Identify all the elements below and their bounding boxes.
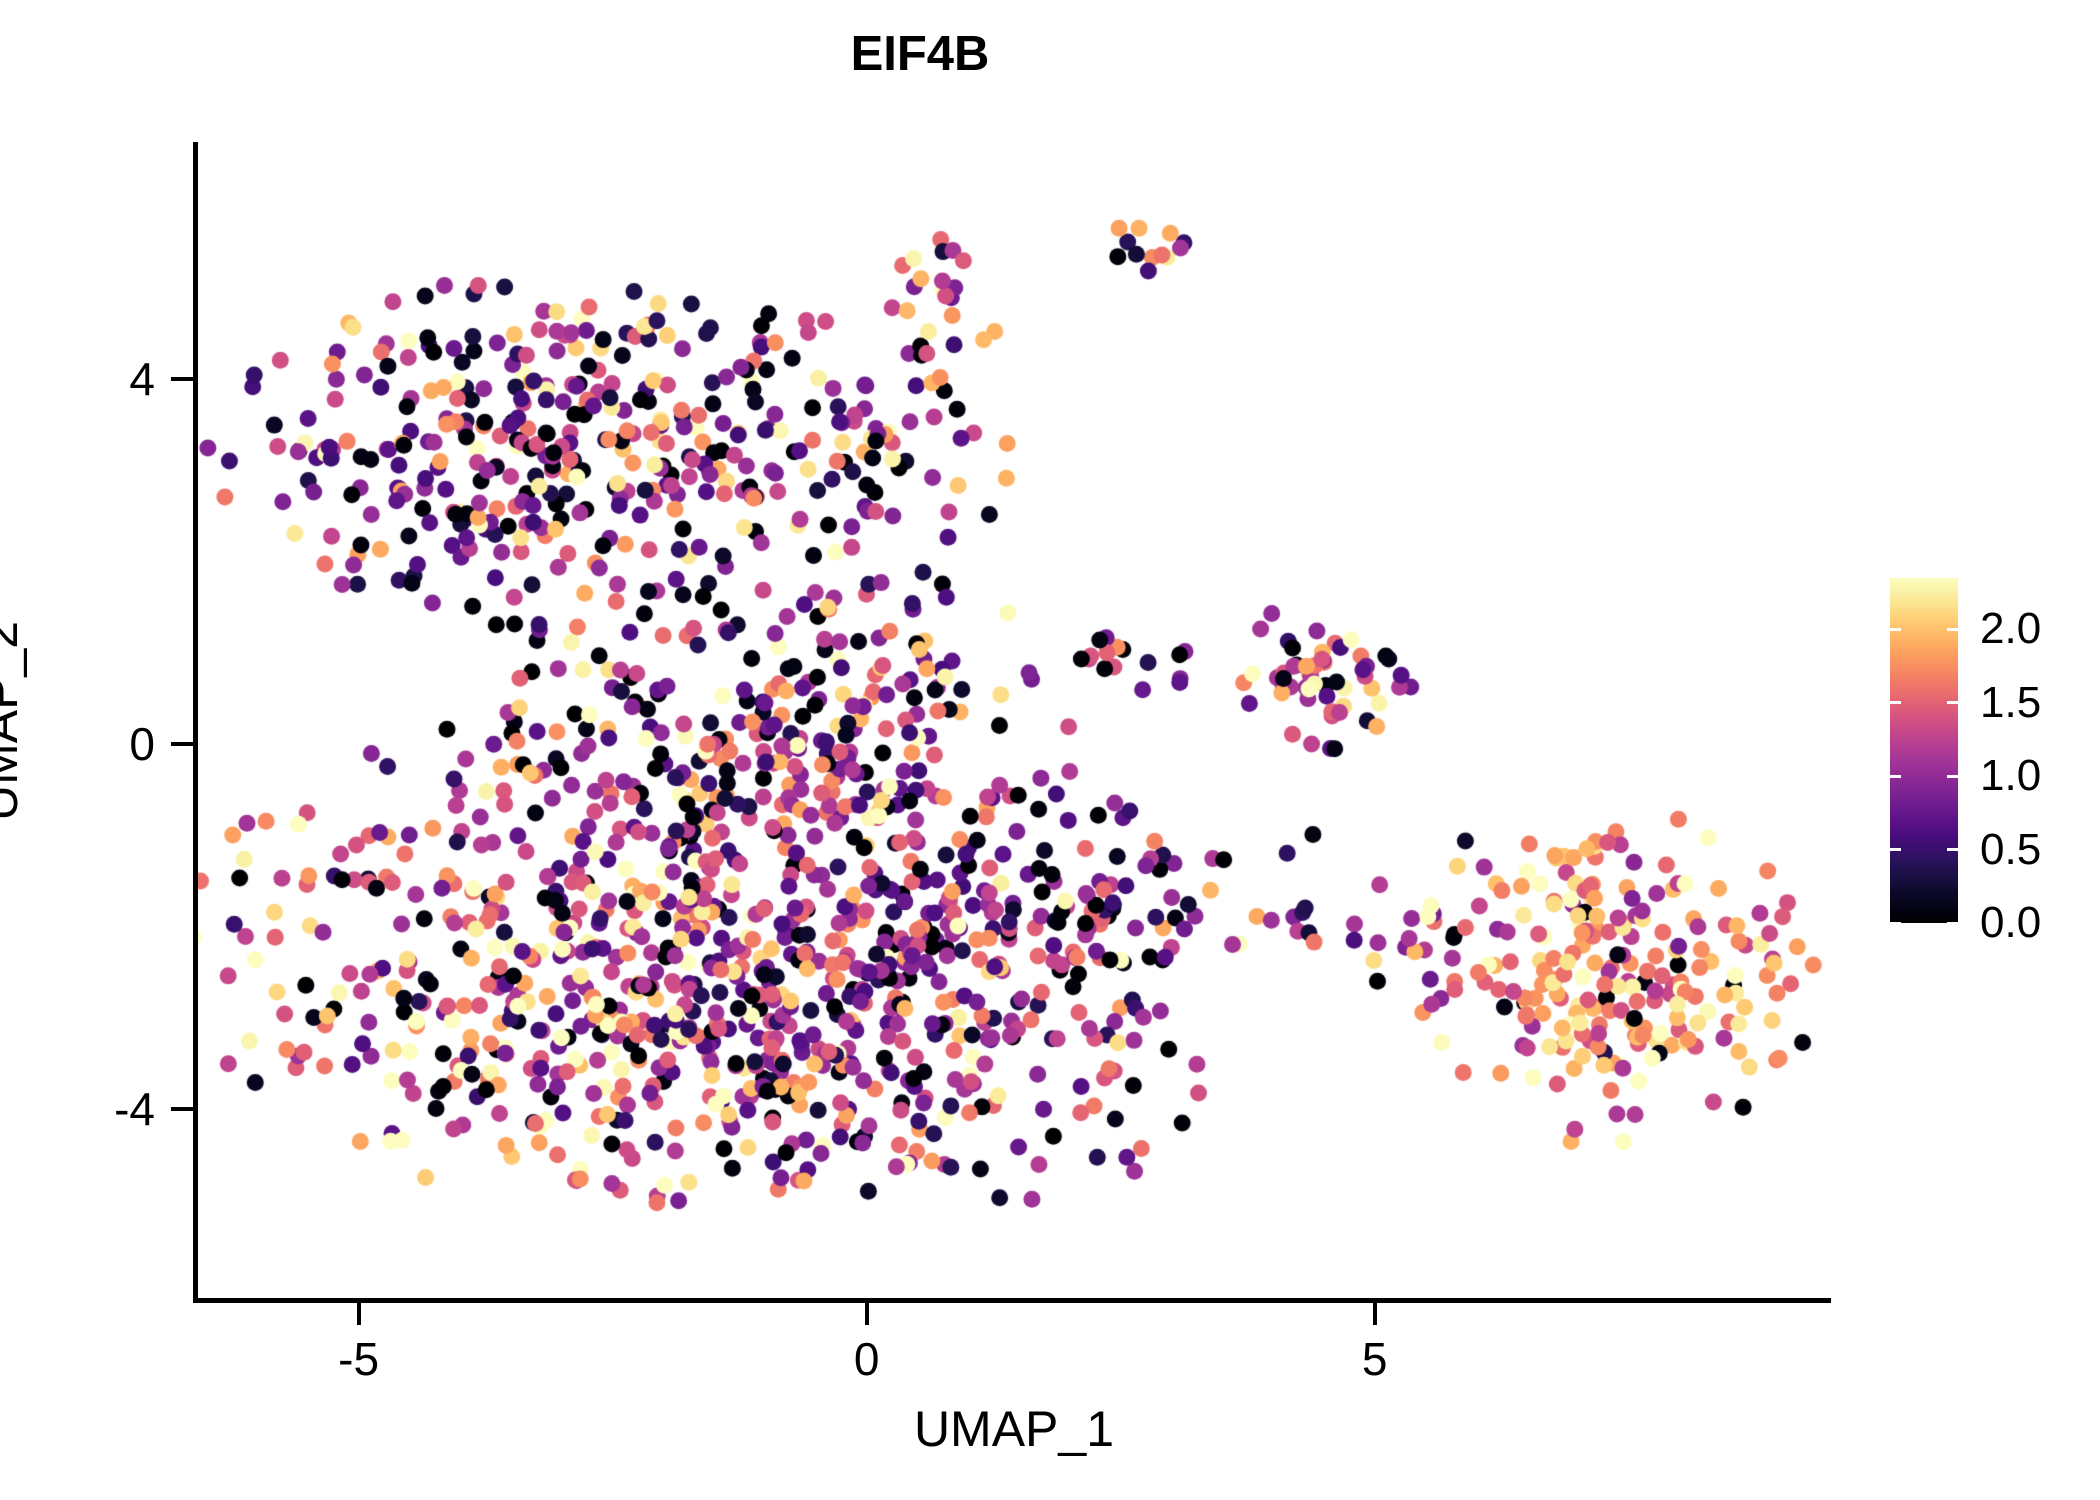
color-legend: 2.01.51.00.50.0 (1890, 578, 2080, 923)
legend-label: 1.5 (1980, 678, 2041, 728)
legend-tick-mark (1947, 775, 1958, 778)
y-tick-mark (171, 377, 193, 381)
legend-tick-mark (1947, 848, 1958, 851)
x-tick-label: -5 (338, 1332, 379, 1386)
plot-panel (196, 142, 1832, 1300)
legend-label: 1.0 (1980, 751, 2041, 801)
legend-tick-mark (1890, 775, 1901, 778)
x-tick-mark (865, 1303, 869, 1325)
legend-tick-mark (1890, 848, 1901, 851)
x-tick-label: 0 (854, 1332, 880, 1386)
legend-tick-mark (1947, 922, 1958, 925)
legend-tick-mark (1947, 628, 1958, 631)
y-tick-label: 4 (129, 352, 155, 406)
legend-tick-mark (1890, 628, 1901, 631)
x-tick-label: 5 (1362, 1332, 1388, 1386)
legend-label: 0.5 (1980, 825, 2041, 875)
umap-feature-plot: EIF4B -505 40-4 UMAP_1 UMAP_2 2.01.51.00… (0, 0, 2100, 1500)
y-axis-title: UMAP_2 (0, 621, 29, 821)
legend-tick-mark (1947, 701, 1958, 704)
x-tick-mark (357, 1303, 361, 1325)
legend-label: 0.0 (1980, 898, 2041, 948)
x-tick-mark (1373, 1303, 1377, 1325)
legend-tick-mark (1890, 701, 1901, 704)
y-tick-label: 0 (129, 717, 155, 771)
y-axis-line (193, 142, 198, 1303)
y-tick-mark (171, 1107, 193, 1111)
y-tick-label: -4 (114, 1082, 155, 1136)
x-axis-title: UMAP_1 (196, 1400, 1832, 1458)
legend-tick-mark (1890, 922, 1901, 925)
legend-label: 2.0 (1980, 604, 2041, 654)
scatter-points-layer (196, 142, 1832, 1300)
y-tick-mark (171, 742, 193, 746)
x-axis-line (193, 1298, 1831, 1303)
page-title: EIF4B (0, 26, 1840, 82)
